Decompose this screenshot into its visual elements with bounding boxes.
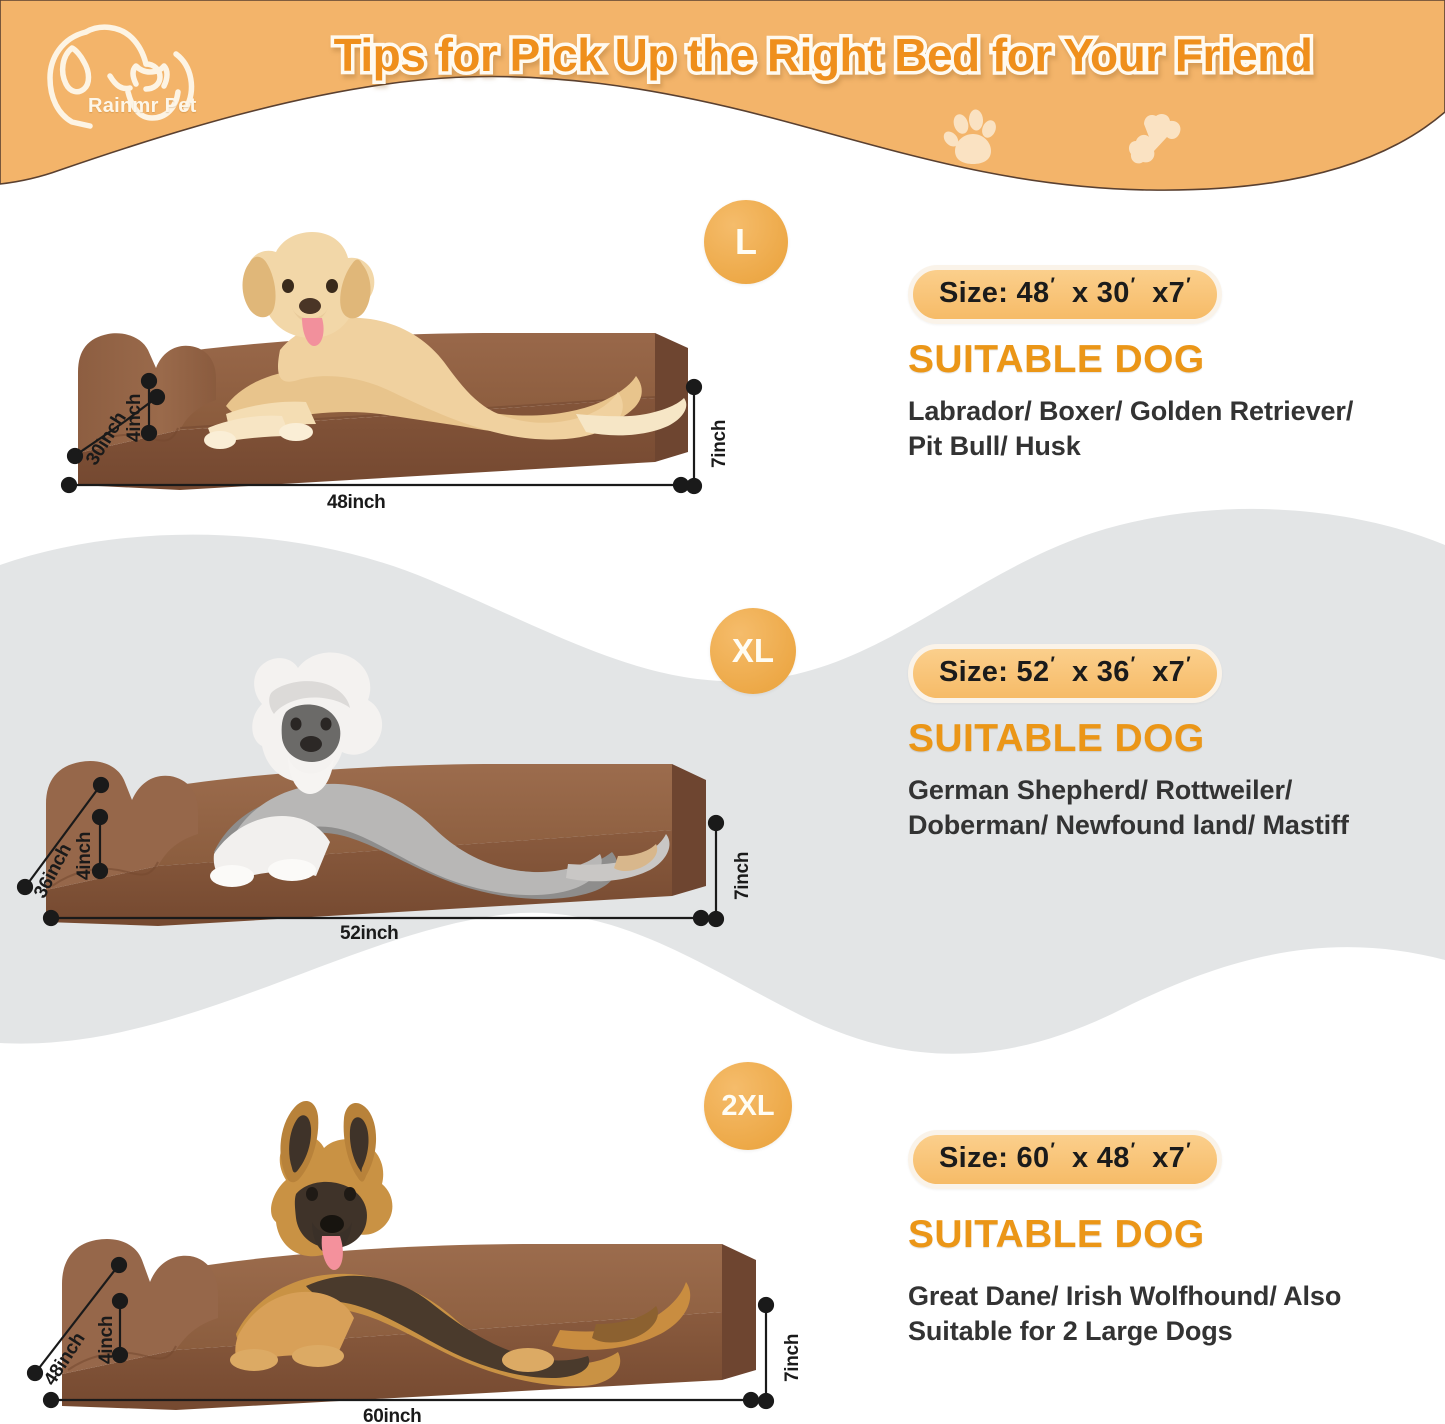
suitable-dog-heading-l: SUITABLE DOG bbox=[908, 338, 1445, 382]
size-badge-label: L bbox=[735, 221, 757, 263]
brand-name: Rainmr Pet bbox=[88, 95, 197, 118]
page-title: Tips for Pick Up the Right Bed for Your … bbox=[228, 28, 1418, 82]
size-pill-height: 7 bbox=[1169, 1142, 1185, 1174]
dimension-thickness-2xl: 7inch bbox=[782, 1334, 804, 1382]
info-panel-l: Size: 48′ x 30′ x7′ SUITABLE DOG Labrado… bbox=[908, 265, 1445, 464]
dimension-length-l: 48inch bbox=[327, 492, 385, 514]
suitable-dog-heading-xl: SUITABLE DOG bbox=[908, 717, 1445, 761]
bed-illustration-xl: 36inch 4inch 52inch 7inch bbox=[0, 608, 800, 938]
dimension-length-xl: 52inch bbox=[340, 923, 398, 945]
breed-line: Suitable for 2 Large Dogs bbox=[908, 1314, 1445, 1349]
breed-line: Labrador/ Boxer/ Golden Retriever/ bbox=[908, 394, 1445, 429]
size-pill-2xl: Size: 60′ x 48′ x7′ bbox=[908, 1130, 1222, 1189]
breed-list-xl: German Shepherd/ Rottweiler/ Doberman/ N… bbox=[908, 773, 1445, 843]
size-pill-label: Size: bbox=[939, 277, 1008, 309]
size-pill-xl: Size: 52′ x 36′ x7′ bbox=[908, 644, 1222, 703]
size-pill-label: Size: bbox=[939, 656, 1008, 688]
dimension-thickness-l: 7inch bbox=[709, 420, 731, 468]
breed-list-2xl: Great Dane/ Irish Wolfhound/ Also Suitab… bbox=[908, 1279, 1445, 1349]
dimension-length-2xl: 60inch bbox=[363, 1406, 421, 1424]
size-pill-width: 48 bbox=[1097, 1142, 1130, 1174]
paw-print-icon bbox=[940, 108, 1002, 170]
bone-icon bbox=[1128, 110, 1194, 166]
size-pill-length: 60 bbox=[1017, 1142, 1050, 1174]
bed-illustration-l: 30inch 4inch 48inch 7inch bbox=[30, 200, 770, 510]
info-panel-xl: Size: 52′ x 36′ x7′ SUITABLE DOG German … bbox=[908, 644, 1445, 843]
size-pill-length: 52 bbox=[1017, 656, 1050, 688]
size-badge-label: 2XL bbox=[721, 1090, 774, 1123]
size-badge-2xl: 2XL bbox=[704, 1062, 792, 1150]
dimension-bolster-xl: 4inch bbox=[74, 832, 96, 880]
breed-line: Great Dane/ Irish Wolfhound/ Also bbox=[908, 1279, 1445, 1314]
size-pill-height: 7 bbox=[1169, 656, 1185, 688]
info-panel-2xl: Size: 60′ x 48′ x7′ SUITABLE DOG Great D… bbox=[908, 1130, 1445, 1349]
breed-line: German Shepherd/ Rottweiler/ bbox=[908, 773, 1445, 808]
size-pill-label: Size: bbox=[939, 1142, 1008, 1174]
dimension-bolster-2xl: 4inch bbox=[96, 1316, 118, 1364]
size-badge-xl: XL bbox=[710, 608, 796, 694]
size-pill-height: 7 bbox=[1169, 277, 1185, 309]
size-pill-length: 48 bbox=[1017, 277, 1050, 309]
infographic-page: Rainmr Pet Tips for Pick Up the Right Be… bbox=[0, 0, 1445, 1424]
dimension-bolster-l: 4inch bbox=[124, 394, 146, 442]
dimension-thickness-xl: 7inch bbox=[732, 852, 754, 900]
suitable-dog-heading-2xl: SUITABLE DOG bbox=[908, 1213, 1445, 1257]
size-badge-label: XL bbox=[732, 632, 774, 670]
size-pill-width: 36 bbox=[1097, 656, 1130, 688]
breed-line: Pit Bull/ Husk bbox=[908, 429, 1445, 464]
header: Rainmr Pet Tips for Pick Up the Right Be… bbox=[0, 0, 1445, 200]
size-badge-l: L bbox=[704, 200, 788, 284]
breed-line: Doberman/ Newfound land/ Mastiff bbox=[908, 808, 1445, 843]
breed-list-l: Labrador/ Boxer/ Golden Retriever/ Pit B… bbox=[908, 394, 1445, 464]
size-pill-l: Size: 48′ x 30′ x7′ bbox=[908, 265, 1222, 324]
size-pill-width: 30 bbox=[1097, 277, 1130, 309]
